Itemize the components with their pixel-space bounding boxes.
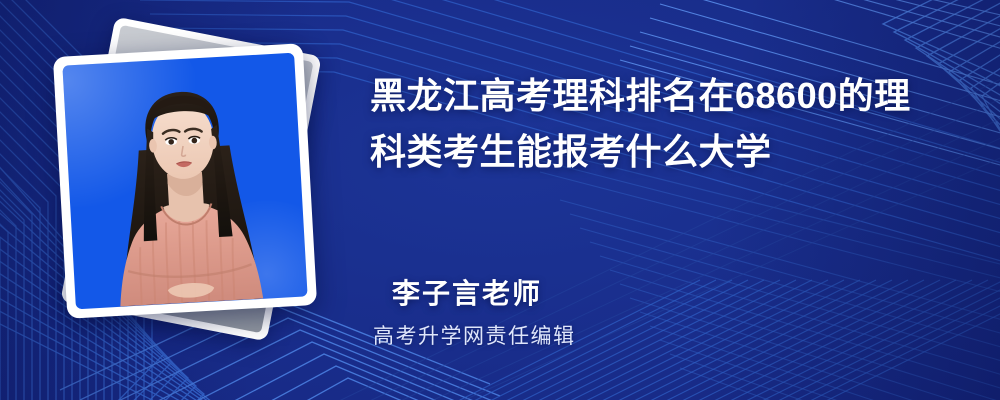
author-photo-card-stack: [52, 26, 352, 356]
author-role: 高考升学网责任编辑: [373, 320, 576, 350]
author-id-photo: [62, 53, 307, 310]
author-name: 李子言老师: [392, 272, 542, 312]
photo-card-front: [53, 43, 317, 319]
page-title: 黑龙江高考理科排名在68600的理 科类考生能报考什么大学: [370, 68, 940, 180]
article-cover-banner: 黑龙江高考理科排名在68600的理 科类考生能报考什么大学 李子言老师 高考升学…: [0, 0, 1000, 400]
banner-text-column: 黑龙江高考理科排名在68600的理 科类考生能报考什么大学 李子言老师 高考升学…: [370, 0, 970, 400]
author-portrait-illustration: [62, 53, 307, 309]
